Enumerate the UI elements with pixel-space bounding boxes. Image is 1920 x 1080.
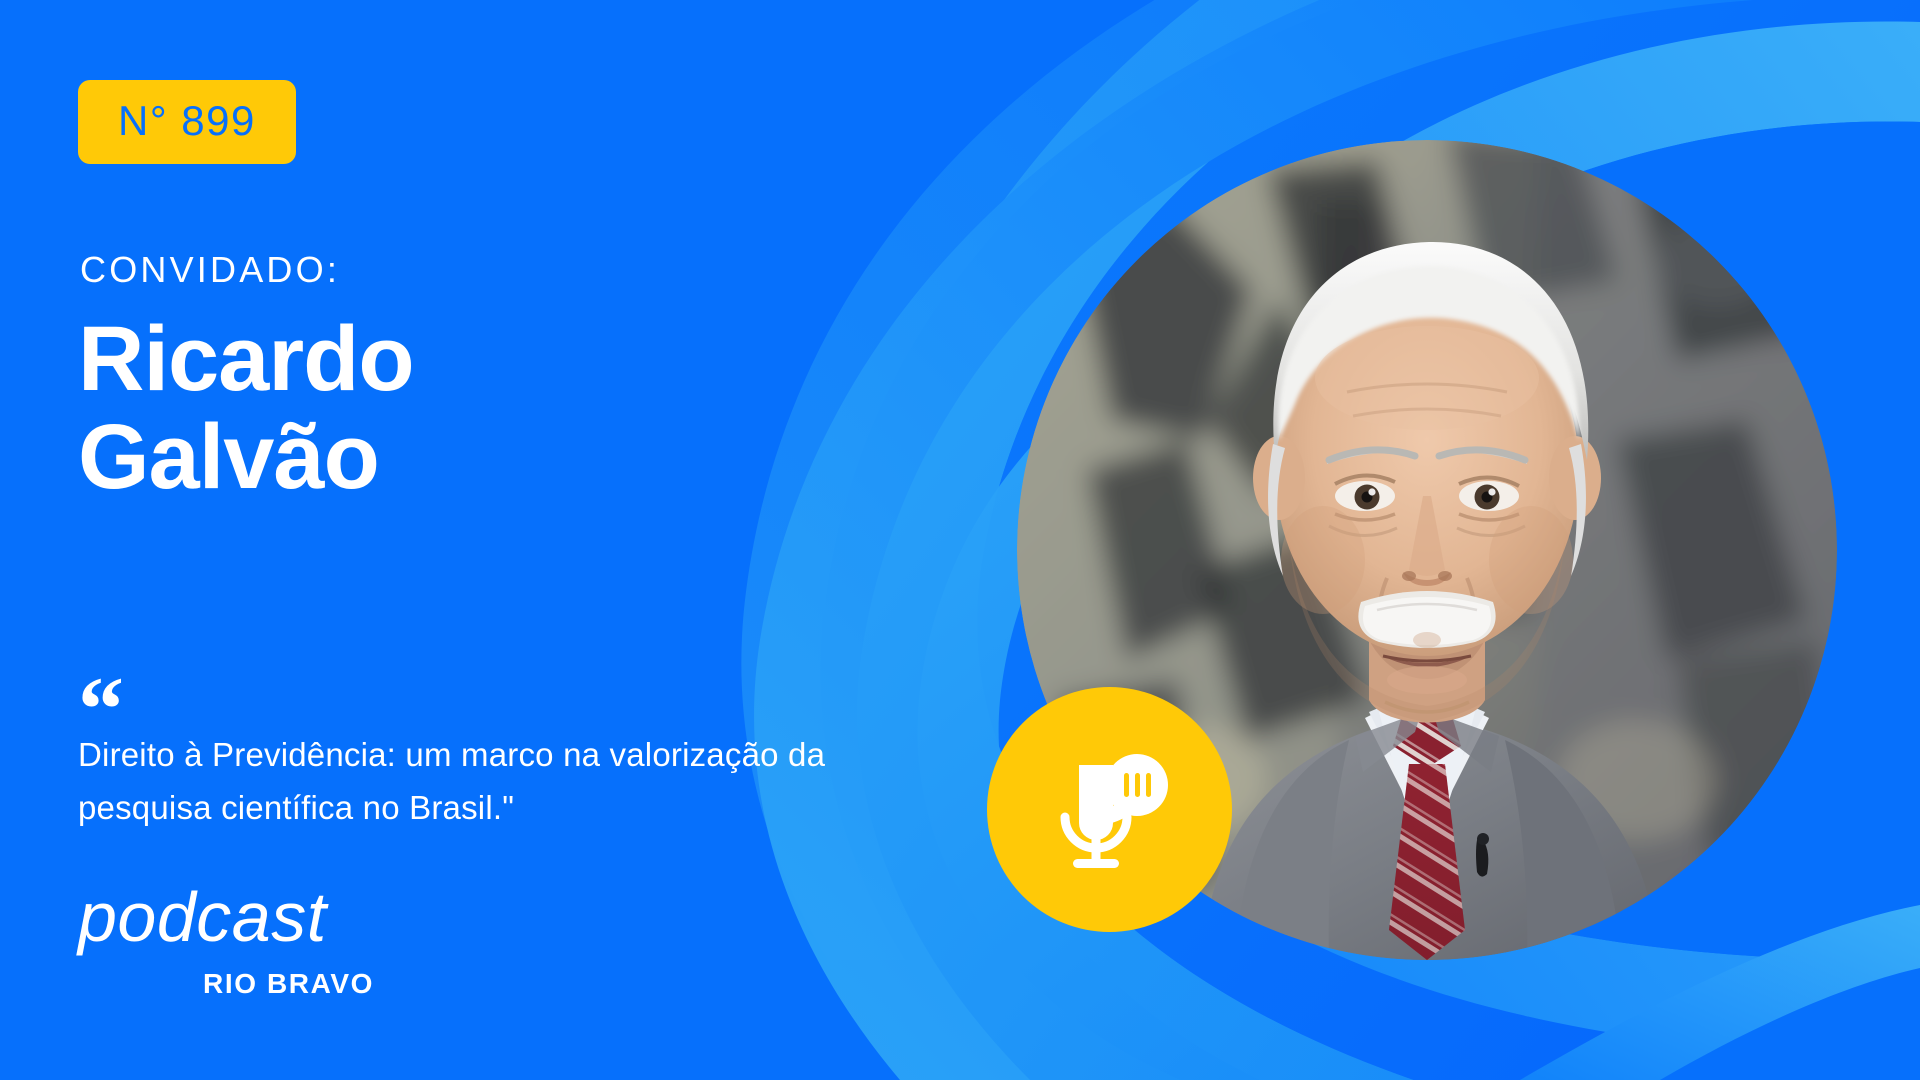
microphone-speech-bubble-icon: [1035, 735, 1185, 885]
guest-label: CONVIDADO:: [80, 252, 340, 288]
podcast-promo-card: N° 899 CONVIDADO: Ricardo Galvão “ Direi…: [0, 0, 1920, 1080]
guest-name: Ricardo Galvão: [78, 310, 414, 507]
content-column: N° 899 CONVIDADO: Ricardo Galvão: [78, 0, 938, 1080]
episode-number-badge: N° 899: [78, 80, 296, 164]
podcast-mic-badge[interactable]: [987, 687, 1232, 932]
